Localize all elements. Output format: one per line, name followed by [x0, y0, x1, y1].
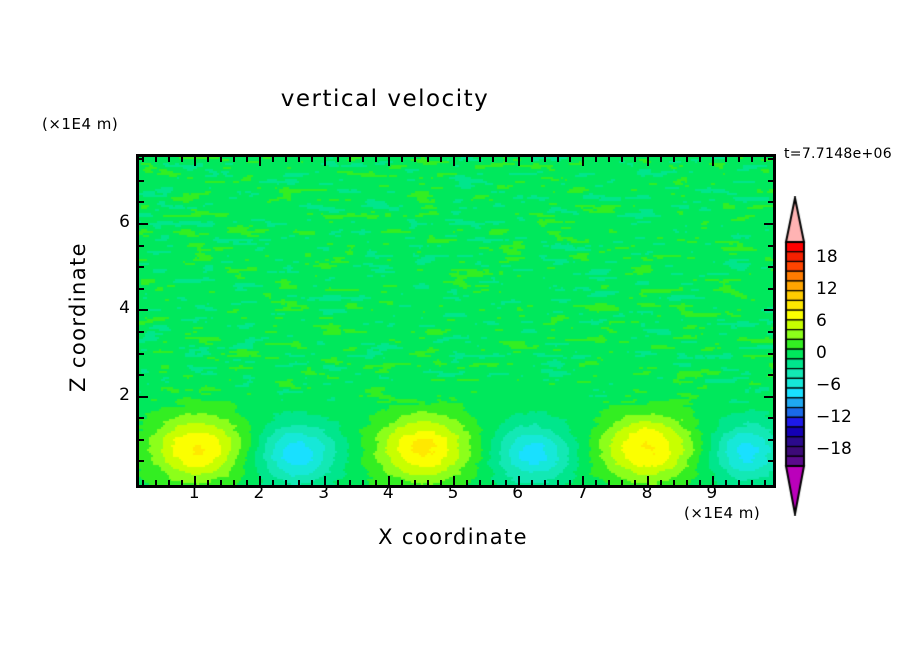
tick-mark: [768, 158, 773, 160]
tick-mark: [764, 223, 773, 225]
tick-mark: [298, 157, 300, 162]
tick-mark: [349, 480, 351, 485]
tick-mark: [768, 266, 773, 268]
tick-mark: [285, 480, 287, 485]
y-tick-label: 4: [90, 298, 130, 318]
tick-mark: [139, 245, 144, 247]
x-tick-label: 5: [433, 483, 473, 503]
tick-mark: [466, 157, 468, 162]
colorbar-tick-label: −18: [816, 439, 852, 459]
tick-mark: [139, 439, 144, 441]
x-tick-label: 8: [627, 483, 667, 503]
tick-mark: [246, 157, 248, 162]
tick-mark: [764, 396, 773, 398]
tick-mark: [768, 374, 773, 376]
figure-root: vertical velocity (×1E4 m) (×1E4 m) t=7.…: [0, 0, 904, 654]
tick-mark: [751, 480, 753, 485]
tick-mark: [207, 157, 209, 162]
tick-mark: [608, 157, 610, 162]
colorbar-gradient: [780, 196, 810, 516]
tick-mark: [660, 157, 662, 162]
tick-mark: [768, 245, 773, 247]
tick-mark: [768, 353, 773, 355]
tick-mark: [738, 480, 740, 485]
tick-mark: [233, 157, 235, 162]
tick-mark: [725, 157, 727, 162]
tick-mark: [375, 157, 377, 162]
tick-mark: [569, 157, 571, 162]
tick-mark: [768, 331, 773, 333]
tick-mark: [634, 157, 636, 162]
tick-mark: [768, 417, 773, 419]
tick-mark: [479, 480, 481, 485]
tick-mark: [768, 201, 773, 203]
x-axis-title: X coordinate: [136, 525, 770, 549]
tick-mark: [518, 157, 520, 166]
x-tick-label: 3: [304, 483, 344, 503]
tick-mark: [155, 157, 157, 162]
tick-mark: [139, 417, 144, 419]
tick-mark: [608, 480, 610, 485]
tick-mark: [155, 480, 157, 485]
tick-mark: [337, 157, 339, 162]
tick-mark: [233, 480, 235, 485]
tick-mark: [388, 157, 390, 166]
tick-mark: [259, 157, 261, 166]
tick-mark: [139, 223, 148, 225]
tick-mark: [139, 353, 144, 355]
x-axis-unit-label: (×1E4 m): [684, 504, 760, 522]
tick-mark: [401, 157, 403, 162]
tick-mark: [595, 157, 597, 162]
tick-mark: [427, 157, 429, 162]
tick-mark: [139, 266, 144, 268]
tick-mark: [764, 309, 773, 311]
tick-mark: [168, 157, 170, 162]
colorbar-tick-label: −12: [816, 407, 852, 427]
tick-mark: [194, 157, 196, 166]
tick-mark: [362, 157, 364, 162]
tick-mark: [272, 157, 274, 162]
tick-mark: [181, 157, 183, 162]
tick-mark: [479, 157, 481, 162]
tick-mark: [311, 157, 313, 162]
tick-mark: [139, 201, 144, 203]
tick-mark: [139, 158, 144, 160]
y-axis-title: Z coordinate: [66, 217, 90, 417]
tick-mark: [621, 157, 623, 162]
x-tick-label: 9: [692, 483, 732, 503]
tick-mark: [647, 157, 649, 166]
tick-mark: [142, 480, 144, 485]
tick-mark: [582, 157, 584, 166]
colorbar-tick-label: 6: [816, 311, 827, 331]
tick-mark: [531, 157, 533, 162]
y-tick-label: 6: [90, 212, 130, 232]
tick-mark: [453, 157, 455, 166]
tick-mark: [139, 288, 144, 290]
colorbar-tick-label: 0: [816, 343, 827, 363]
tick-mark: [751, 157, 753, 162]
colorbar: [780, 196, 810, 516]
contour-plot-area: [136, 154, 776, 488]
tick-mark: [544, 157, 546, 162]
tick-mark: [686, 157, 688, 162]
tick-mark: [220, 157, 222, 162]
tick-mark: [139, 460, 144, 462]
tick-mark: [505, 157, 507, 162]
tick-mark: [621, 480, 623, 485]
tick-mark: [768, 180, 773, 182]
x-tick-label: 4: [368, 483, 408, 503]
tick-mark: [139, 331, 144, 333]
tick-mark: [768, 288, 773, 290]
colorbar-tick-label: 12: [816, 279, 838, 299]
tick-mark: [768, 439, 773, 441]
tick-mark: [414, 157, 416, 162]
tick-mark: [427, 480, 429, 485]
x-tick-label: 7: [562, 483, 602, 503]
tick-mark: [168, 480, 170, 485]
tick-mark: [414, 480, 416, 485]
tick-mark: [492, 157, 494, 162]
tick-mark: [139, 374, 144, 376]
tick-mark: [492, 480, 494, 485]
tick-mark: [699, 157, 701, 162]
tick-mark: [139, 180, 144, 182]
tick-mark: [738, 157, 740, 162]
tick-mark: [712, 157, 714, 166]
tick-mark: [764, 480, 766, 485]
colorbar-tick-label: 18: [816, 247, 838, 267]
page-title: vertical velocity: [0, 86, 770, 112]
tick-mark: [768, 460, 773, 462]
tick-mark: [557, 157, 559, 162]
tick-mark: [686, 480, 688, 485]
tick-mark: [557, 480, 559, 485]
tick-mark: [139, 396, 148, 398]
x-tick-label: 6: [498, 483, 538, 503]
tick-mark: [139, 309, 148, 311]
tick-mark: [349, 157, 351, 162]
colorbar-tick-label: −6: [816, 375, 841, 395]
x-tick-label: 1: [174, 483, 214, 503]
y-axis-unit-label: (×1E4 m): [42, 115, 118, 133]
tick-mark: [440, 157, 442, 162]
tick-mark: [298, 480, 300, 485]
tick-mark: [673, 157, 675, 162]
tick-mark: [362, 480, 364, 485]
tick-mark: [324, 157, 326, 166]
tick-mark: [764, 157, 766, 162]
tick-mark: [673, 480, 675, 485]
tick-mark: [544, 480, 546, 485]
vertical-velocity-field: [139, 157, 773, 485]
x-tick-label: 2: [239, 483, 279, 503]
timestamp-annotation: t=7.7148e+06: [784, 146, 892, 162]
y-tick-label: 2: [90, 385, 130, 405]
tick-mark: [220, 480, 222, 485]
tick-mark: [285, 157, 287, 162]
